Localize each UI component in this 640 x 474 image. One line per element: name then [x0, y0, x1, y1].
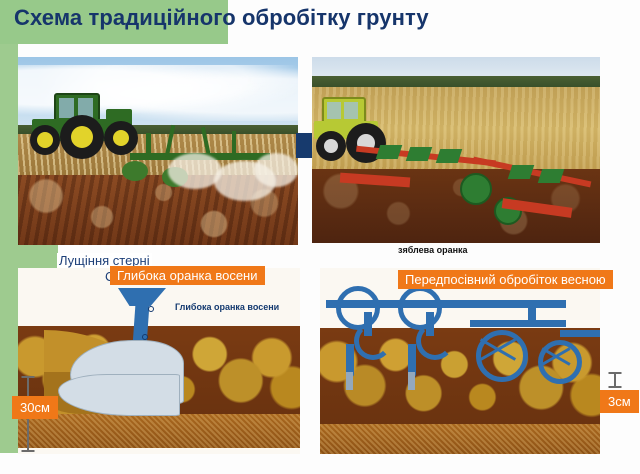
tractor-rear-wheel-2 [104, 121, 138, 155]
caption-autumn-ploughing: зяблева оранка [398, 245, 468, 255]
connector-block [296, 133, 312, 158]
plough-callout-dot-2 [142, 334, 148, 340]
harrow-disc-1 [122, 161, 148, 181]
stubble-cultivation-photo [18, 57, 298, 245]
tag-deep-autumn-ploughing[interactable]: Глибока оранка восени [110, 266, 265, 285]
tine-curve-2 [416, 322, 454, 360]
plough-body-5 [538, 169, 565, 183]
plough-body-1 [376, 145, 403, 159]
measure-cap-bottom [608, 386, 621, 388]
plough-callout-dot-1 [148, 306, 154, 312]
harrow-hanger [528, 304, 536, 326]
plough-body-3 [436, 149, 463, 163]
soil-subsoil-layer [320, 424, 600, 454]
harrow-sub-bar-2 [560, 330, 600, 337]
soil-subsoil-layer [18, 414, 300, 448]
plough-body-2 [406, 147, 433, 161]
dust-cloud-3 [254, 153, 298, 187]
wheel-hub [113, 130, 129, 146]
tractor-front-wheel [30, 125, 60, 155]
depth-label-3cm: 3см [600, 390, 639, 413]
cab-glass-right [344, 102, 358, 119]
wheel-hub [71, 126, 93, 148]
depth-label-30cm: 30см [12, 396, 58, 419]
harrow-sub-bar [470, 320, 566, 327]
measure-cap-top [608, 372, 621, 374]
depth-measure-3cm [608, 372, 621, 388]
measure-cap-bottom [21, 450, 34, 452]
tractor-front-wheel [316, 131, 346, 161]
deep-autumn-ploughing-diagram [18, 268, 300, 454]
tine-point-1 [346, 372, 353, 390]
pre-sowing-spring-tillage-diagram [320, 268, 600, 454]
wheel-hub [37, 132, 53, 148]
tag-pre-sowing-spring-tillage[interactable]: Передпосівний обробіток весною [398, 270, 613, 289]
tine-curve-1 [354, 322, 392, 360]
harrow-strut-4 [232, 131, 236, 157]
autumn-ploughing-photo [312, 57, 600, 243]
tractor-rear-wheel [60, 115, 104, 159]
measure-cap-top [21, 376, 34, 378]
plough-press-wheel [460, 173, 492, 205]
wheel-hub [324, 139, 338, 153]
tine-point-2 [408, 372, 415, 390]
treeline [312, 76, 600, 87]
deep-ploughing-inner-note: Глибока оранка восени [175, 302, 279, 312]
page-title: Схема традиційного обробітку грунту [14, 5, 429, 31]
cab-glass-left [327, 102, 341, 119]
harrow-strut-1 [146, 133, 151, 157]
slide-canvas: Схема традиційного обробітку грунту [0, 0, 640, 474]
cab-glass-left [59, 98, 74, 118]
plough-body-4 [508, 165, 535, 179]
